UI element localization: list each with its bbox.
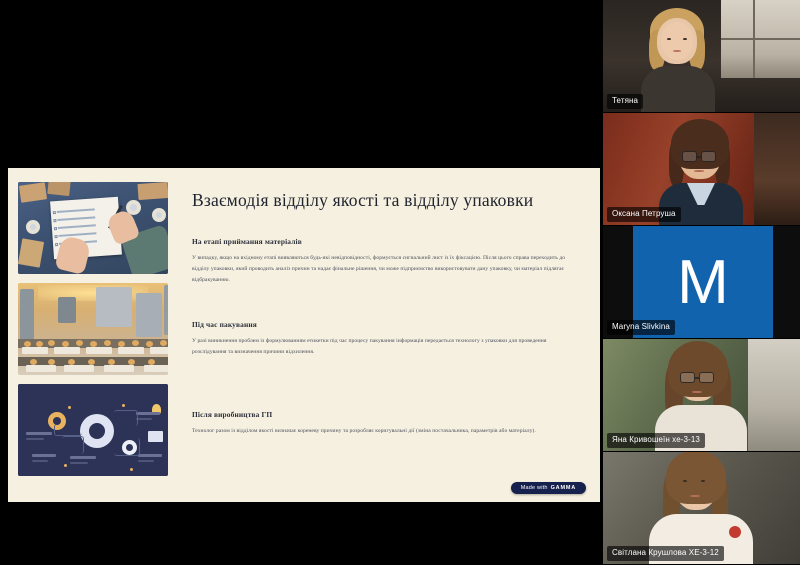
section-heading: Під час пакування (192, 320, 578, 329)
participant-name: Тетяна (607, 94, 643, 109)
shared-screen-stage[interactable]: Взаємодія відділу якості та відділу упак… (0, 0, 603, 565)
badge-brand: GAMMA (551, 485, 576, 491)
participant-name: Оксана Петруша (607, 207, 681, 222)
participant-tile-maryna-slivkina[interactable]: M Maryna Slivkina (603, 226, 800, 339)
slide-section-1: На етапі приймання матеріалів У випадку,… (192, 237, 578, 286)
slide-section-2: Під час пакування У разі виникнення проб… (192, 320, 578, 358)
avatar-initial: M (677, 252, 729, 314)
meeting-screen: Взаємодія відділу якості та відділу упак… (0, 0, 800, 565)
participant-tile-oksana-petrusha[interactable]: Оксана Петруша (603, 113, 800, 226)
quality-checklist-photo (18, 182, 168, 274)
participant-tile-yana-kryvoshein[interactable]: Яна Кривошеїн хе-3-13 (603, 339, 800, 452)
participant-tile-tetyana[interactable]: Тетяна (603, 0, 800, 113)
participant-tile-svitlana-krushlova[interactable]: Світлана Крушлова ХЕ-3-12 (603, 452, 800, 565)
process-infographic (18, 384, 168, 476)
badge-prefix: Made with (521, 485, 548, 491)
slide-image-column (8, 168, 176, 502)
made-with-gamma-badge[interactable]: Made with GAMMA (511, 482, 586, 494)
presentation-slide[interactable]: Взаємодія відділу якості та відділу упак… (8, 168, 600, 502)
slide-section-3: Після виробництва ГП Технолог разом із в… (192, 410, 578, 437)
slide-title: Взаємодія відділу якості та відділу упак… (192, 190, 578, 211)
participant-name: Світлана Крушлова ХЕ-3-12 (607, 546, 724, 561)
section-body: У випадку, якщо на вхідному етапі виявля… (192, 253, 577, 286)
participant-name: Яна Кривошеїн хе-3-13 (607, 433, 705, 448)
section-body: Технолог разом із відділом якості визнач… (192, 426, 577, 437)
section-heading: Після виробництва ГП (192, 410, 578, 419)
participant-name: Maryna Slivkina (607, 320, 675, 335)
section-body: У разі виникнення проблем із формулюванн… (192, 336, 577, 358)
participant-rail[interactable]: Тетяна Оксана Петруша M Maryna Slivkina (603, 0, 800, 565)
slide-text-column: Взаємодія відділу якості та відділу упак… (176, 168, 600, 502)
packaging-line-photo (18, 283, 168, 375)
section-heading: На етапі приймання матеріалів (192, 237, 578, 246)
